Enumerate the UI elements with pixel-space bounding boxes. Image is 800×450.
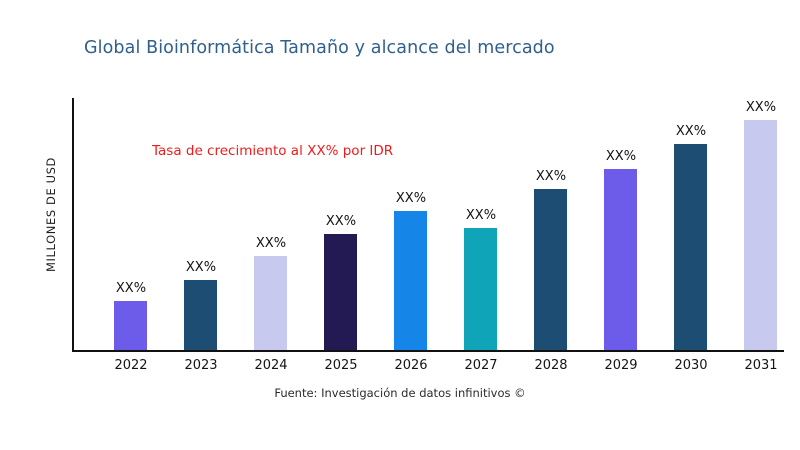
bar-slot: XX% [446, 98, 516, 350]
bar-value-label: XX% [726, 100, 796, 115]
bar-slot: XX% [586, 98, 656, 350]
bar-slot: XX% [726, 98, 796, 350]
bar[interactable] [674, 144, 707, 350]
x-tick-label: 2022 [96, 358, 166, 373]
y-axis-label: MILLONES DE USD [44, 157, 58, 272]
bar-value-label: XX% [376, 191, 446, 206]
x-tick-label: 2026 [376, 358, 446, 373]
bar-slot: XX% [376, 98, 446, 350]
x-tick-label: 2029 [586, 358, 656, 373]
chart-title: Global Bioinformática Tamaño y alcance d… [84, 38, 555, 58]
growth-rate-annotation: Tasa de crecimiento al XX% por IDR [152, 143, 393, 159]
x-tick-label: 2024 [236, 358, 306, 373]
y-axis-label-container: MILLONES DE USD [22, 96, 48, 276]
x-axis-line [72, 350, 784, 352]
bar[interactable] [184, 280, 217, 350]
bar-value-label: XX% [656, 124, 726, 139]
bar-value-label: XX% [586, 149, 656, 164]
bar[interactable] [534, 189, 567, 350]
bar-slot: XX% [236, 98, 306, 350]
x-tick-label: 2031 [726, 358, 796, 373]
x-tick-label: 2025 [306, 358, 376, 373]
source-note: Fuente: Investigación de datos infinitiv… [0, 386, 800, 400]
bar-value-label: XX% [96, 281, 166, 296]
bar-slot: XX% [306, 98, 376, 350]
bar-value-label: XX% [446, 208, 516, 223]
bar-chart-figure: Global Bioinformática Tamaño y alcance d… [0, 0, 800, 450]
plot-area: XX%XX%XX%XX%XX%XX%XX%XX%XX%XX% [72, 98, 784, 351]
bar[interactable] [324, 234, 357, 350]
bar-slot: XX% [96, 98, 166, 350]
bar-slot: XX% [166, 98, 236, 350]
bar[interactable] [464, 228, 497, 350]
bar-value-label: XX% [516, 169, 586, 184]
y-axis-line [72, 98, 74, 351]
bar-value-label: XX% [306, 214, 376, 229]
bar-slot: XX% [516, 98, 586, 350]
bar[interactable] [114, 301, 147, 350]
x-tick-label: 2027 [446, 358, 516, 373]
bar-slot: XX% [656, 98, 726, 350]
bar[interactable] [744, 120, 777, 350]
bar-value-label: XX% [166, 260, 236, 275]
x-tick-label: 2023 [166, 358, 236, 373]
x-tick-label: 2030 [656, 358, 726, 373]
bar[interactable] [254, 256, 287, 350]
bar[interactable] [394, 211, 427, 350]
bar-value-label: XX% [236, 236, 306, 251]
x-tick-label: 2028 [516, 358, 586, 373]
bar[interactable] [604, 169, 637, 350]
